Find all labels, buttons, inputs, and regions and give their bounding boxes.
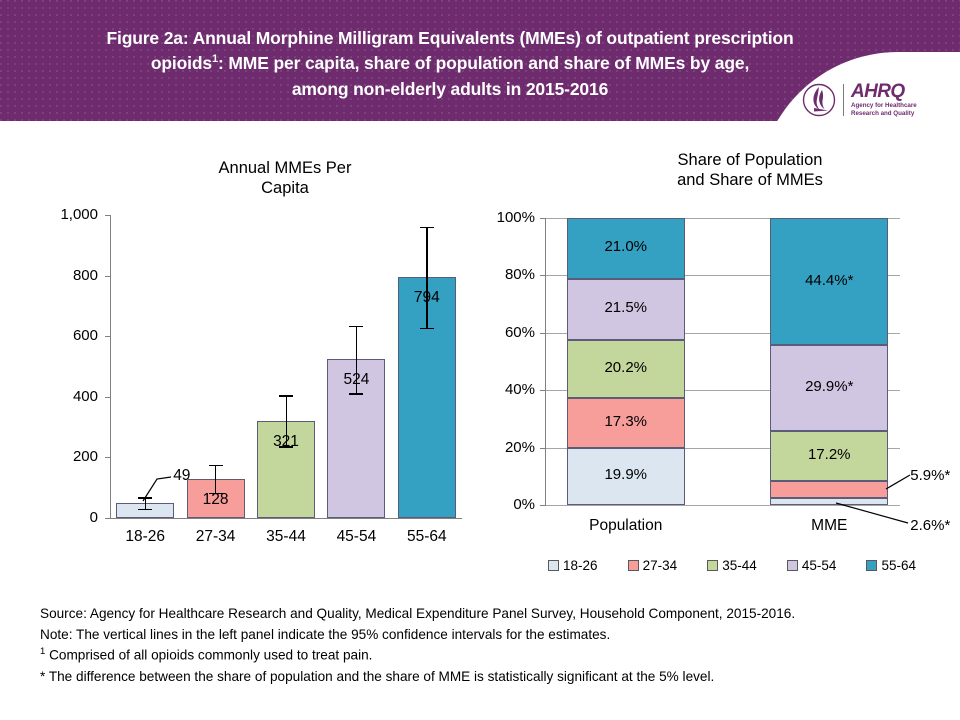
chart-title-share: Share of Populationand Share of MMEs (610, 150, 890, 190)
ahrq-acronym: AHRQ (851, 82, 952, 101)
title-line-2-part-b: : MME per capita, share of population an… (218, 53, 749, 73)
title-line-1: Figure 2a: Annual Morphine Milligram Equ… (106, 28, 793, 48)
segment-label-MME-55-64: 44.4%* (770, 272, 888, 289)
legend-swatch-35-44 (707, 560, 718, 571)
chart-title-mme-per-capita: Annual MMEs PerCapita (120, 158, 450, 198)
ahrq-wordmark: AHRQ Agency for Healthcare Research and … (851, 82, 952, 119)
footnote-source: Source: Agency for Healthcare Research a… (40, 604, 940, 625)
chart-title-line-1: Share of Population (610, 150, 890, 170)
y-axis-line (110, 215, 111, 519)
y-tick-label: 40% (480, 381, 535, 398)
legend-item-45-54: 45-54 (787, 558, 837, 573)
legend-swatch-27-34 (628, 560, 639, 571)
title-line-3: among non-elderly adults in 2015-2016 (292, 79, 608, 99)
y-tick-label: 60% (480, 324, 535, 341)
y-tick-label: 400 (20, 388, 98, 405)
ahrq-tagline-line-1: Agency for Healthcare (851, 102, 917, 109)
chart-share-population-and-mme: Share of Populationand Share of MMEs0%20… (480, 150, 960, 550)
segment-label-Population-35-44: 20.2% (567, 359, 685, 376)
error-bar-cap-top-45-54 (349, 326, 363, 327)
logo-divider (843, 84, 844, 116)
legend-label-27-34: 27-34 (643, 558, 678, 573)
y-tick-mark (105, 276, 110, 277)
error-bar-cap-top-55-64 (420, 227, 434, 228)
ahrq-logo: AHRQ Agency for Healthcare Research and … (802, 78, 952, 121)
y-tick-mark (105, 457, 110, 458)
segment-MME-27-34 (770, 481, 888, 498)
y-tick-label: 0 (20, 509, 98, 526)
chart-title-line-2: Capita (120, 178, 450, 198)
page-title: Figure 2a: Annual Morphine Milligram Equ… (60, 26, 840, 102)
footnote-star: * The difference between the share of po… (40, 667, 940, 688)
ahrq-tagline: Agency for Healthcare Research and Quali… (851, 102, 952, 119)
y-tick-label: 0% (480, 496, 535, 513)
y-tick-mark (105, 336, 110, 337)
header-banner: Figure 2a: Annual Morphine Milligram Equ… (0, 0, 960, 121)
error-bar-cap-top-35-44 (279, 395, 293, 396)
y-axis-line (545, 218, 546, 506)
segment-label-Population-18-26: 19.9% (567, 466, 685, 483)
bar-value-35-44: 321 (246, 433, 326, 451)
footnote-note: Note: The vertical lines in the left pan… (40, 625, 940, 646)
hhs-eagle-icon (802, 82, 836, 118)
y-tick-label: 800 (20, 267, 98, 284)
x-axis-line (110, 518, 462, 519)
legend-swatch-18-26 (548, 560, 559, 571)
legend-swatch-45-54 (787, 560, 798, 571)
footnotes: Source: Agency for Healthcare Research a… (40, 604, 940, 687)
callout-line-2-6 (834, 499, 914, 529)
legend-item-55-64: 55-64 (866, 558, 916, 573)
chart-legend: 18-2627-3435-4445-5455-64 (548, 554, 916, 576)
legend-item-35-44: 35-44 (707, 558, 757, 573)
footnote-one: 1 Comprised of all opioids commonly used… (40, 645, 940, 666)
legend-label-55-64: 55-64 (881, 558, 916, 573)
y-tick-mark (105, 397, 110, 398)
segment-label-MME-45-54: 29.9%* (770, 378, 888, 395)
callout-line-5-9 (884, 473, 914, 499)
legend-swatch-55-64 (866, 560, 877, 571)
y-tick-label: 20% (480, 439, 535, 456)
y-tick-label: 100% (480, 209, 535, 226)
callout-label-2-6: 2.6%* (910, 517, 960, 534)
footnote-one-text: Comprised of all opioids commonly used t… (45, 648, 372, 663)
segment-label-Population-27-34: 17.3% (567, 413, 685, 430)
chart-title-line-2: and Share of MMEs (610, 170, 890, 190)
y-tick-mark (105, 518, 110, 519)
legend-item-18-26: 18-26 (548, 558, 598, 573)
segment-label-Population-45-54: 21.5% (567, 299, 685, 316)
y-tick-mark (105, 215, 110, 216)
title-line-2-part-a: opioids (151, 53, 212, 73)
legend-item-27-34: 27-34 (628, 558, 678, 573)
callout-label-5-9: 5.9%* (910, 467, 960, 484)
legend-label-45-54: 45-54 (802, 558, 837, 573)
y-tick-label: 80% (480, 266, 535, 283)
chart-mme-per-capita: Annual MMEs PerCapita02004006008001,0001… (0, 150, 480, 550)
error-bar-27-34 (215, 465, 216, 493)
error-bar-cap-bottom-45-54 (349, 393, 363, 394)
error-bar-cap-top-27-34 (209, 465, 223, 466)
x-axis-label-Population: Population (556, 517, 696, 535)
bar-value-27-34: 128 (176, 491, 256, 509)
ahrq-tagline-line-2: Research and Quality (851, 110, 914, 117)
segment-label-Population-55-64: 21.0% (567, 238, 685, 255)
error-bar-55-64 (426, 227, 427, 328)
bar-value-45-54: 524 (316, 371, 396, 389)
y-tick-label: 600 (20, 327, 98, 344)
y-tick-label: 200 (20, 448, 98, 465)
chart-title-line-1: Annual MMEs Per (120, 158, 450, 178)
segment-label-MME-35-44: 17.2% (770, 446, 888, 463)
error-bar-cap-bottom-55-64 (420, 328, 434, 329)
legend-label-18-26: 18-26 (563, 558, 598, 573)
y-tick-label: 1,000 (20, 206, 98, 223)
legend-label-35-44: 35-44 (722, 558, 757, 573)
x-axis-label-55-64: 55-64 (385, 528, 469, 546)
bar-value-55-64: 794 (387, 289, 467, 307)
